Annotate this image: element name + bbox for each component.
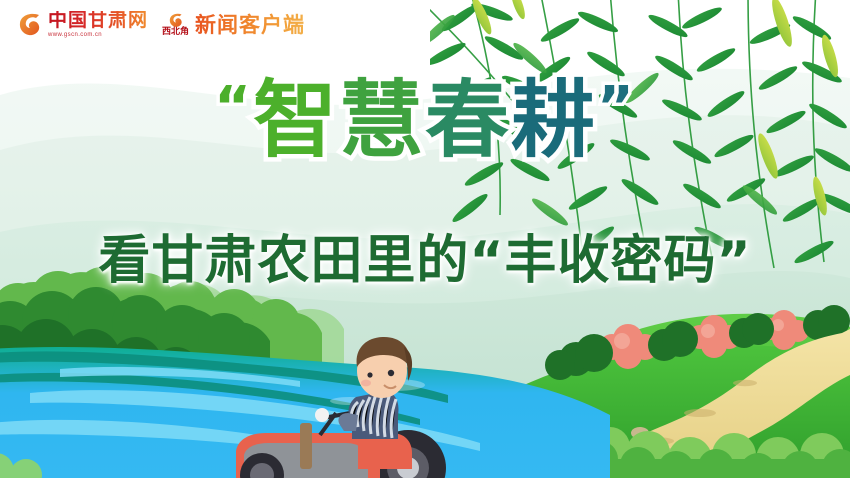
logo-china-gansu-net-text: 中国甘肃网	[48, 11, 148, 30]
steering-knob	[315, 408, 329, 422]
swirl-logo-icon-secondary	[167, 12, 185, 28]
farmer-cheek	[361, 380, 371, 387]
title-block: “智慧春耕”	[0, 78, 850, 162]
title-char-1: 智	[253, 71, 339, 169]
xibeijiao-label: 西北角	[162, 28, 189, 37]
title-char-4: 耕	[511, 71, 597, 169]
logo-news-client[interactable]: 西北角 新闻客户端	[162, 9, 305, 39]
news-poster: 中国甘肃网 www.gscn.com.cn 西北角 新闻客户端 “智慧春耕” 看…	[0, 0, 850, 478]
title-quote-open: “	[214, 75, 253, 140]
title-char-2: 慧	[339, 71, 425, 169]
title-quote-close: ”	[597, 75, 636, 140]
site-logos: 中国甘肃网 www.gscn.com.cn 西北角 新闻客户端	[18, 9, 305, 39]
main-title: “智慧春耕”	[214, 78, 636, 162]
subtitle: 看甘肃农田里的“丰收密码”	[0, 218, 850, 293]
farmer-eye-far	[367, 372, 372, 377]
logo-china-gansu-net[interactable]: 中国甘肃网 www.gscn.com.cn	[18, 11, 148, 38]
bottom-scene	[0, 263, 850, 478]
swirl-logo-icon	[18, 11, 42, 37]
xibeijiao-mark: 西北角	[162, 12, 189, 37]
logo-news-client-text: 新闻客户端	[195, 9, 305, 39]
logo-site-url: www.gscn.com.cn	[48, 32, 148, 38]
farmer-eye	[388, 370, 394, 376]
title-char-3: 春	[425, 71, 511, 169]
